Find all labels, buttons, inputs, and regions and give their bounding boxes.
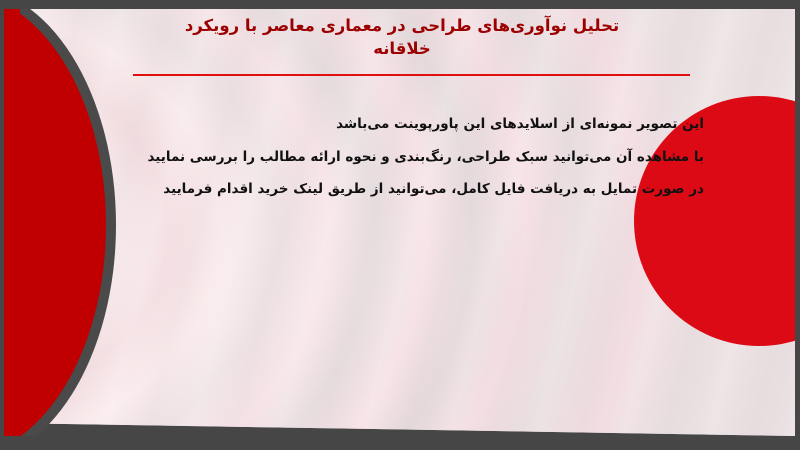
- body-line-2: با مشاهده آن می‌توانید سبک طراحی، رنگ‌بن…: [104, 151, 704, 165]
- frame-bottom-bar: [0, 436, 800, 450]
- slide-title-block: تحلیل نوآوری‌های طراحی در معماری معاصر ب…: [112, 14, 692, 61]
- frame-top-bar: [0, 0, 800, 9]
- frame-right-bar: [795, 0, 800, 450]
- frame-left-bar: [0, 0, 4, 450]
- body-line-1: این تصویر نمونه‌ای از اسلایدهای این پاور…: [104, 118, 704, 132]
- body-line-3: در صورت تمایل به دریافت فایل کامل، می‌تو…: [104, 183, 704, 197]
- title-underline-rule: [133, 74, 690, 76]
- slide-body-block: این تصویر نمونه‌ای از اسلایدهای این پاور…: [104, 118, 704, 197]
- slide-title: تحلیل نوآوری‌های طراحی در معماری معاصر ب…: [112, 14, 692, 61]
- presentation-slide: تحلیل نوآوری‌های طراحی در معماری معاصر ب…: [0, 0, 800, 450]
